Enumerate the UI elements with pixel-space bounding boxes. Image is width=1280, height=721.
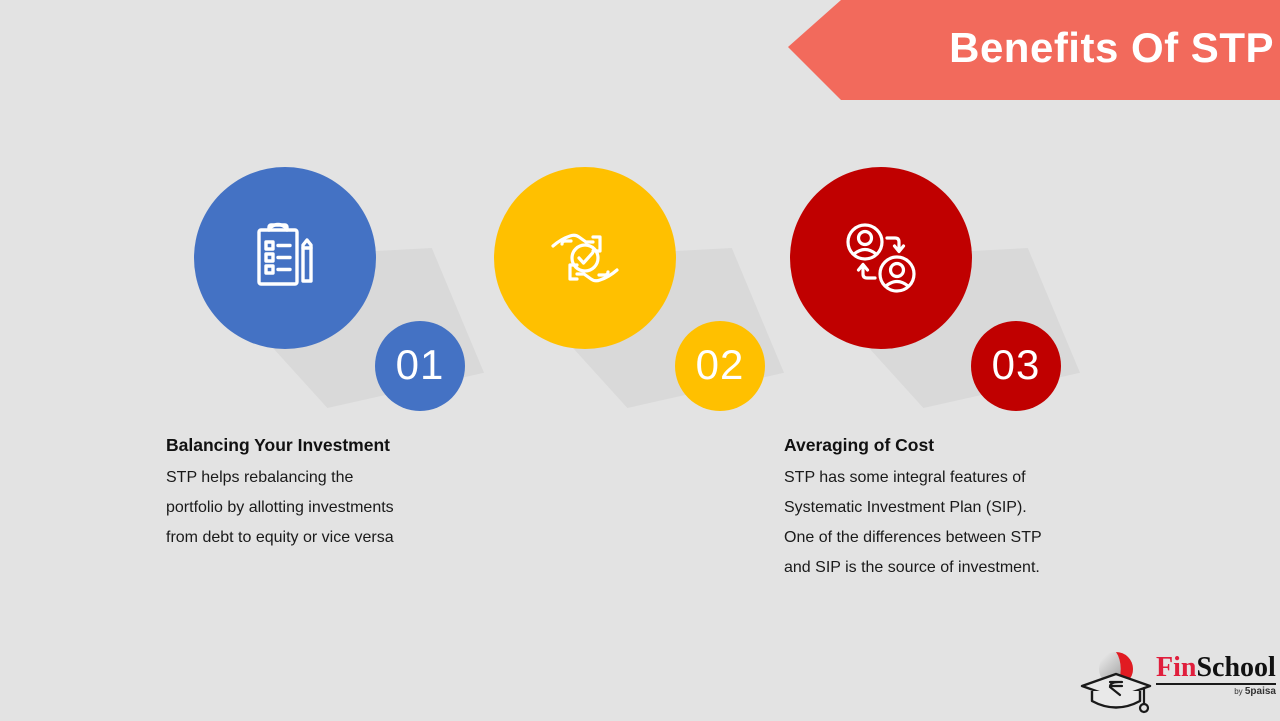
logo-wordmark: FinSchool <box>1156 654 1276 685</box>
benefit-number-3: 03 <box>992 344 1041 386</box>
logo-tagline-by: by <box>1234 687 1245 696</box>
logo-text-group: FinSchool by 5paisa <box>1156 654 1276 697</box>
benefit-number-badge-3: 03 <box>971 321 1061 411</box>
logo-tagline: by 5paisa <box>1156 687 1276 697</box>
benefit-icon-circle-3 <box>790 167 972 349</box>
logo-name-second: School <box>1196 652 1275 683</box>
logo-name-first: Fin <box>1156 652 1196 683</box>
user-transfer-arrows-icon <box>839 216 923 300</box>
graduation-cap-rupee-icon <box>1074 648 1158 716</box>
finschool-logo: FinSchool by 5paisa <box>1074 648 1276 716</box>
logo-tagline-brand: 5paisa <box>1245 686 1276 697</box>
benefit-column-3: 03 Aims for Higher Return Money invested… <box>596 0 1016 720</box>
